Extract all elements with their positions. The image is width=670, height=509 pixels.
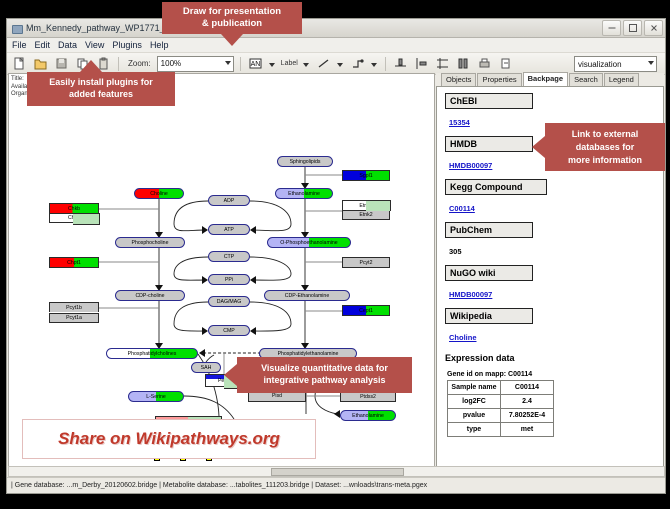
callout-draw-line2: & publication: [170, 18, 294, 30]
callout-plugins-arrow: [80, 60, 102, 72]
screenshot-root: Mm_Kennedy_pathway_WP1771_45176.gpml Fil…: [0, 0, 670, 509]
node-ppi[interactable]: PPi: [208, 274, 250, 285]
callout-plugins: Easily install plugins for added feature…: [27, 72, 175, 106]
visualization-value: visualization: [578, 60, 622, 69]
chevron-down-icon[interactable]: [648, 61, 654, 65]
db-link-wikipedia[interactable]: Choline: [449, 333, 477, 342]
callout-draw-line1: Draw for presentation: [170, 6, 294, 18]
label-dropdown-icon[interactable]: [268, 57, 277, 71]
table-row: pvalue 7.80252E-4: [448, 409, 554, 423]
cell-key: Sample name: [448, 381, 501, 395]
tab-objects[interactable]: Objects: [441, 73, 476, 86]
maximize-button[interactable]: [623, 20, 642, 36]
title-bar: Mm_Kennedy_pathway_WP1771_45176.gpml: [7, 19, 665, 38]
db-value-pubchem: 305: [449, 247, 462, 256]
node-ethanolamine-top[interactable]: Ethanolamine: [275, 188, 333, 199]
save-icon[interactable]: [53, 55, 70, 72]
node-sgpl1[interactable]: Sgpl1: [342, 170, 390, 181]
node-chka-label-overlay: [73, 213, 99, 223]
db-link-kegg[interactable]: C00114: [449, 204, 475, 213]
db-link-nugo[interactable]: HMDB00097: [449, 290, 492, 299]
toolbar-separator: [240, 57, 241, 71]
callout-draw: Draw for presentation & publication: [162, 2, 302, 34]
node-cmp[interactable]: CMP: [208, 325, 250, 336]
open-folder-icon[interactable]: [32, 55, 49, 72]
db-header-pubchem: PubChem: [445, 222, 533, 238]
table-row: Sample name C00114: [448, 381, 554, 395]
node-o-phosphoethanolamine[interactable]: O-Phosphoethanolamine: [267, 237, 351, 248]
svg-text:AN: AN: [250, 61, 260, 68]
pathway-canvas[interactable]: Title: Availa Organi: [8, 73, 435, 476]
close-button[interactable]: [644, 20, 663, 36]
node-ethanolamine-right[interactable]: Ethanolamine: [340, 410, 396, 421]
visualization-combo[interactable]: visualization: [574, 56, 657, 72]
cell-value: 7.80252E-4: [501, 409, 554, 423]
node-pcyt1b[interactable]: Pcyt1b: [49, 302, 99, 312]
callout-links-line2: databases for: [553, 141, 657, 154]
distribute-icon[interactable]: [434, 55, 451, 72]
node-l-serine-left[interactable]: L-Serine: [128, 391, 184, 402]
node-chkb[interactable]: Chkb: [49, 203, 99, 213]
node-adp[interactable]: ADP: [208, 195, 250, 206]
canvas-hscrollbar[interactable]: [8, 466, 665, 477]
menu-file[interactable]: File: [12, 40, 27, 50]
callout-links: Link to external databases for more info…: [545, 123, 665, 171]
node-cdp-ethanolamine[interactable]: CDP-Ethanolamine: [264, 290, 350, 301]
node-pcyt1a[interactable]: Pcyt1a: [49, 313, 99, 323]
db-header-chebi: ChEBI: [445, 93, 533, 109]
text-label-icon[interactable]: AN: [247, 55, 264, 72]
align-left-icon[interactable]: [413, 55, 430, 72]
menu-help[interactable]: Help: [150, 40, 169, 50]
callout-plugins-line1: Easily install plugins for: [35, 76, 167, 88]
toolbar-separator: [118, 57, 119, 71]
node-choline-top[interactable]: Choline: [134, 188, 184, 199]
menu-plugins[interactable]: Plugins: [112, 40, 142, 50]
cell-key: type: [448, 423, 501, 437]
node-chpt1[interactable]: Chpt1: [49, 257, 99, 268]
node-sah[interactable]: SAH: [191, 362, 221, 373]
cell-key: pvalue: [448, 409, 501, 423]
scrollbar-thumb[interactable]: [271, 468, 404, 476]
callout-links-line3: more information: [553, 154, 657, 167]
share-text: Share on Wikipathways.org: [58, 429, 280, 449]
export-icon[interactable]: [497, 55, 514, 72]
node-etnk2[interactable]: Etnk2: [342, 210, 390, 220]
table-row: type met: [448, 423, 554, 437]
expression-table: Sample name C00114 log2FC 2.4 pvalue 7.8…: [447, 380, 554, 437]
node-phosphocholine[interactable]: Phosphocholine: [115, 237, 185, 248]
line-dropdown-icon[interactable]: [336, 57, 345, 71]
tab-properties[interactable]: Properties: [477, 73, 521, 86]
node-pcyt2[interactable]: Pcyt2: [342, 257, 390, 268]
menu-data[interactable]: Data: [58, 40, 77, 50]
chevron-down-icon[interactable]: [225, 61, 231, 65]
zoom-label: Zoom:: [128, 59, 151, 68]
stack-icon[interactable]: [455, 55, 472, 72]
tab-search[interactable]: Search: [569, 73, 603, 86]
table-row: log2FC 2.4: [448, 395, 554, 409]
callout-visualize: Visualize quantitative data for integrat…: [237, 357, 412, 393]
node-etnk1-highlight: [366, 200, 391, 211]
tab-backpage[interactable]: Backpage: [523, 72, 568, 86]
cell-value: C00114: [501, 381, 554, 395]
menu-edit[interactable]: Edit: [35, 40, 51, 50]
node-sphingolipids[interactable]: Sphingolipids: [277, 156, 333, 167]
print-icon[interactable]: [476, 55, 493, 72]
tab-legend[interactable]: Legend: [604, 73, 639, 86]
db-header-hmdb: HMDB: [445, 136, 533, 152]
zoom-input[interactable]: 100%: [157, 56, 234, 72]
db-header-wikipedia: Wikipedia: [445, 308, 533, 324]
callout-visualize-line2: integrative pathway analysis: [245, 374, 404, 386]
node-cept1[interactable]: Cept1: [342, 305, 390, 316]
status-bar: | Gene database: ...m_Derby_20120602.bri…: [7, 477, 665, 493]
line-icon[interactable]: [315, 55, 332, 72]
menu-view[interactable]: View: [85, 40, 104, 50]
label-tool-dropdown-icon[interactable]: [302, 57, 311, 71]
connector-dropdown-icon[interactable]: [370, 57, 379, 71]
node-phosphatidylcholines[interactable]: Phosphatidylcholines: [106, 348, 198, 359]
new-file-icon[interactable]: [11, 55, 28, 72]
db-header-kegg: Kegg Compound: [445, 179, 547, 195]
callout-links-arrow: [532, 136, 545, 158]
side-tabs[interactable]: Objects Properties Backpage Search Legen…: [436, 73, 664, 87]
db-link-chebi[interactable]: 15354: [449, 118, 470, 127]
zoom-value: 100%: [161, 59, 181, 68]
callout-links-line1: Link to external: [553, 128, 657, 141]
minimize-button[interactable]: [602, 20, 621, 36]
status-text: | Gene database: ...m_Derby_20120602.bri…: [7, 482, 427, 489]
gene-id-label: Gene id on mapp: C00114: [447, 371, 663, 378]
node-atp[interactable]: ATP: [208, 224, 250, 235]
window-controls[interactable]: [602, 20, 663, 36]
cell-value: met: [501, 423, 554, 437]
callout-visualize-arrow: [224, 364, 237, 386]
app-icon: [11, 23, 22, 34]
db-link-hmdb[interactable]: HMDB00097: [449, 161, 492, 170]
db-header-nugo: NuGO wiki: [445, 265, 533, 281]
callout-plugins-line2: added features: [35, 88, 167, 100]
label-tool-text: Label: [281, 60, 298, 67]
toolbar-separator: [385, 57, 386, 71]
callout-share: Share on Wikipathways.org: [22, 419, 316, 459]
connector-icon[interactable]: [349, 55, 366, 72]
callout-draw-arrow: [221, 34, 243, 46]
node-cdp-choline[interactable]: CDP-choline: [115, 290, 185, 301]
expression-data-heading: Expression data: [445, 353, 663, 363]
callout-visualize-line1: Visualize quantitative data for: [245, 362, 404, 374]
node-dag-mag[interactable]: DAG/MAG: [208, 296, 250, 307]
menu-bar[interactable]: File Edit Data View Plugins Help: [7, 38, 665, 53]
cell-key: log2FC: [448, 395, 501, 409]
cell-value: 2.4: [501, 395, 554, 409]
align-icon[interactable]: [392, 55, 409, 72]
node-ctp[interactable]: CTP: [208, 251, 250, 262]
